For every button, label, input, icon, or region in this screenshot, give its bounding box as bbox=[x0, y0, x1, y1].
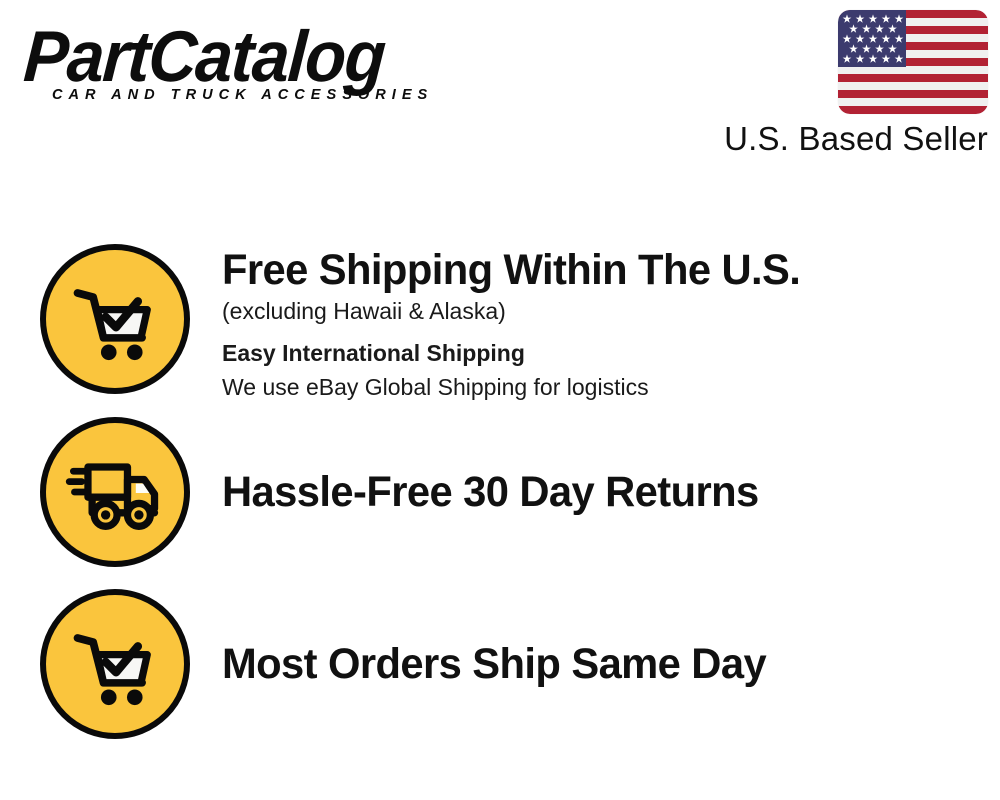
us-flag-icon bbox=[838, 10, 988, 114]
feature-text: Most Orders Ship Same Day bbox=[190, 640, 980, 688]
seller-banner: PartCatalog CAR AND TRUCK ACCESSORIES bbox=[0, 0, 1000, 800]
delivery-truck-icon bbox=[40, 417, 190, 567]
feature-row: Most Orders Ship Same Day bbox=[40, 589, 980, 739]
feature-heading: Free Shipping Within The U.S. bbox=[222, 246, 957, 294]
us-based-seller-label: U.S. Based Seller bbox=[724, 120, 988, 158]
shopping-cart-check-icon bbox=[40, 589, 190, 739]
brand-name: PartCatalog bbox=[22, 20, 464, 94]
feature-subtext-logistics: We use eBay Global Shipping for logistic… bbox=[222, 371, 980, 404]
feature-text: Free Shipping Within The U.S. (excluding… bbox=[190, 244, 980, 404]
shopping-cart-check-icon bbox=[40, 244, 190, 394]
brand-tagline: CAR AND TRUCK ACCESSORIES bbox=[52, 86, 433, 103]
banner-header: PartCatalog CAR AND TRUCK ACCESSORIES bbox=[0, 0, 1000, 175]
brand-tagline-wrap: CAR AND TRUCK ACCESSORIES bbox=[52, 86, 472, 103]
feature-row: Free Shipping Within The U.S. (excluding… bbox=[40, 244, 980, 404]
feature-heading: Most Orders Ship Same Day bbox=[222, 640, 957, 688]
feature-text: Hassle-Free 30 Day Returns bbox=[190, 468, 980, 516]
feature-subtext-exclusions: (excluding Hawaii & Alaska) bbox=[222, 295, 980, 328]
feature-heading: Hassle-Free 30 Day Returns bbox=[222, 468, 957, 516]
feature-subtext-international: Easy International Shipping bbox=[222, 337, 980, 370]
brand-logo: PartCatalog bbox=[24, 20, 494, 94]
feature-row: Hassle-Free 30 Day Returns bbox=[40, 417, 980, 567]
